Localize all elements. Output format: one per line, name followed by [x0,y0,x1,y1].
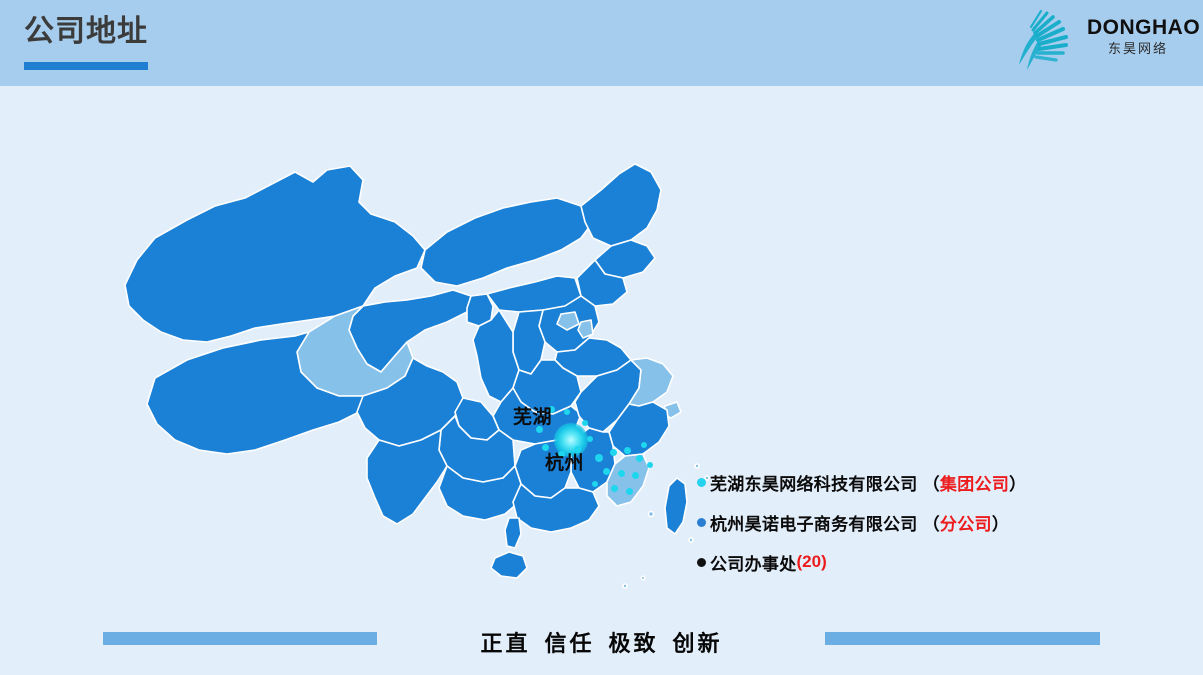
legend-note-group-company: （集团公司） [923,470,1027,495]
legend-note-branch-company: （分公司） [923,510,1010,535]
slide-canvas: 公司地址 DONGHAO 东昊网络 [0,0,1203,675]
legend-label-offices: 公司办事处 [710,550,797,575]
legend-label-branch-company: 杭州昊诺电子商务有限公司 [710,510,918,535]
legend-bullet-black-icon [697,558,706,567]
slogan-word-4: 创新 [673,631,723,656]
marker-office[interactable] [582,420,588,426]
map-provinces [125,164,709,588]
marker-office[interactable] [618,470,625,477]
china-map-svg [95,110,715,610]
slogan-word-1: 正直 [480,631,530,656]
legend-paren-open: （ [923,515,940,534]
footer-slogan: 正直信任极致创新 [0,626,1203,658]
legend-paren-close: ） [992,515,1009,534]
marker-office[interactable] [603,468,610,475]
marker-office[interactable] [636,455,643,462]
slogan-word-3: 极致 [609,631,659,656]
marker-office[interactable] [624,447,631,454]
legend-bullet-blue-icon [697,518,706,527]
logo-name-en: DONGHAO [1087,17,1189,39]
company-logo: DONGHAO 东昊网络 [1009,5,1189,77]
legend-bullet-cyan-icon [697,478,706,487]
marker-office[interactable] [647,462,653,468]
marker-office[interactable] [632,472,639,479]
marker-office[interactable] [564,409,570,415]
marker-office[interactable] [610,449,617,456]
legend-item-branch-company: 杭州昊诺电子商务有限公司 （分公司） [697,502,1137,542]
legend-paren-open: （ [923,475,940,494]
marker-office[interactable] [587,436,593,442]
china-map-container: 芜湖 杭州 [95,110,715,610]
legend-note-text: 集团公司 [940,475,1009,494]
title-underline-accent [24,62,148,70]
marker-office[interactable] [641,442,647,448]
legend-office-count: (20) [797,552,827,572]
marker-office[interactable] [626,488,633,495]
logo-name-cn: 东昊网络 [1087,39,1189,59]
city-label-wuhu: 芜湖 [513,402,552,429]
marker-branch-hangzhou[interactable] [595,454,603,462]
marker-office[interactable] [592,481,598,487]
legend-note-text: 分公司 [940,515,992,534]
slogan-word-2: 信任 [544,631,594,656]
legend-paren-close: ） [1009,475,1026,494]
fan-feather-icon [1011,7,1089,75]
legend-item-group-company: 芜湖东昊网络科技有限公司 （集团公司） [697,462,1137,502]
marker-office[interactable] [611,485,618,492]
legend-label-group-company: 芜湖东昊网络科技有限公司 [710,470,918,495]
page-title: 公司地址 [24,17,148,47]
legend-item-offices: 公司办事处 (20) [697,542,1137,582]
legend: 芜湖东昊网络科技有限公司 （集团公司） 杭州昊诺电子商务有限公司 （分公司） 公… [697,462,1137,582]
logo-text-block: DONGHAO 东昊网络 [1087,17,1189,59]
city-label-hangzhou: 杭州 [545,448,584,475]
